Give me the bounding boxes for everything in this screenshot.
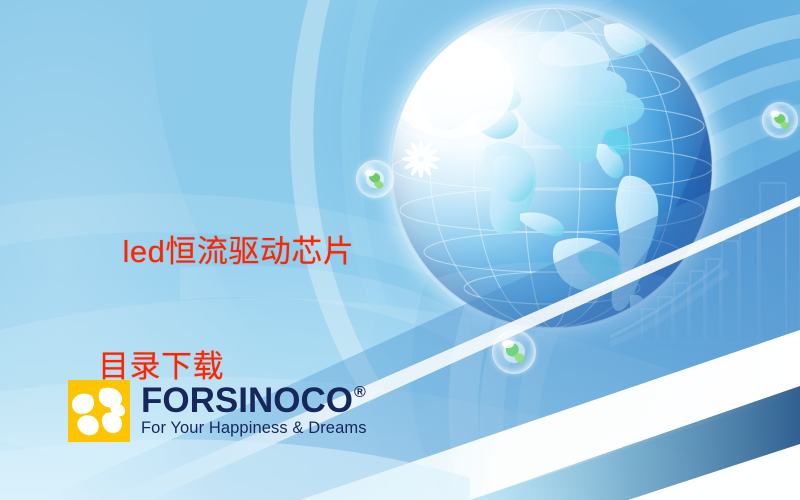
headline: led恒流驱动芯片 目录下载 <box>86 166 416 500</box>
registered-trademark-icon: ® <box>354 385 366 401</box>
promo-banner: led恒流驱动芯片 目录下载 <box>0 0 800 500</box>
logo-tagline: For Your Happiness & Dreams <box>141 419 367 438</box>
bubble-globe-icon <box>763 103 797 137</box>
bubble-medium-center <box>492 330 536 374</box>
four-petal-flower-icon <box>68 380 130 442</box>
company-logo: FORSINOCO ® For Your Happiness & Dreams <box>68 380 367 442</box>
logo-brand-name: FORSINOCO ® <box>141 384 367 417</box>
bubble-small-right <box>762 102 798 138</box>
logo-text-block: FORSINOCO ® For Your Happiness & Dreams <box>141 384 367 438</box>
logo-brand-word: FORSINOCO <box>141 384 353 417</box>
logo-mark <box>68 380 130 442</box>
bubble-globe-icon <box>493 331 535 373</box>
headline-line-1: led恒流驱动芯片 <box>122 234 354 269</box>
